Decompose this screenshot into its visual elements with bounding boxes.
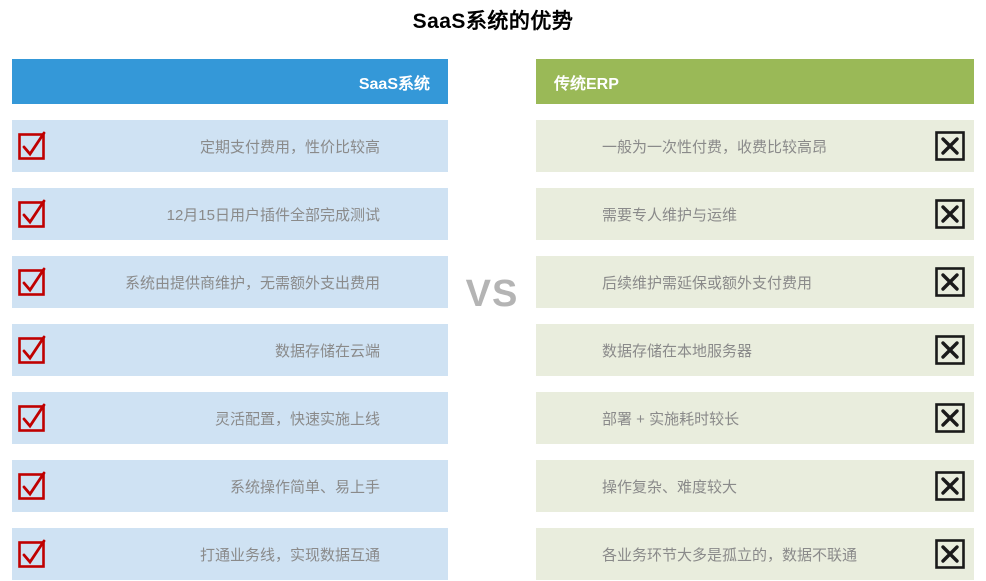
x-square-icon bbox=[934, 470, 966, 502]
table-cell-text: 后续维护需延保或额外支付费用 bbox=[554, 272, 812, 293]
saas-column-header-label: SaaS系统 bbox=[359, 70, 430, 94]
x-square-icon bbox=[934, 538, 966, 570]
erp-column-header: 传统ERP bbox=[536, 59, 974, 104]
saas-column: SaaS系统 定期支付费用，性价比较高 12月15日用户插件全部完成测试 系统由… bbox=[12, 59, 448, 580]
table-row[interactable]: 操作复杂、难度较大 bbox=[536, 460, 974, 512]
erp-column-header-label: 传统ERP bbox=[554, 70, 619, 94]
table-row[interactable]: 系统由提供商维护，无需额外支出费用 bbox=[12, 256, 448, 308]
table-cell-text: 系统由提供商维护，无需额外支出费用 bbox=[125, 272, 430, 293]
x-square-icon bbox=[934, 130, 966, 162]
table-row[interactable]: 打通业务线，实现数据互通 bbox=[12, 528, 448, 580]
erp-column: 传统ERP 一般为一次性付费，收费比较高昂 需要专人维护与运维 后续维护需延保或… bbox=[536, 59, 974, 580]
table-cell-text: 部署 + 实施耗时较长 bbox=[554, 408, 739, 429]
table-row[interactable]: 灵活配置，快速实施上线 bbox=[12, 392, 448, 444]
table-cell-text: 数据存储在本地服务器 bbox=[554, 340, 752, 361]
table-cell-text: 12月15日用户插件全部完成测试 bbox=[167, 204, 430, 225]
check-square-icon bbox=[16, 334, 48, 366]
table-row[interactable]: 数据存储在本地服务器 bbox=[536, 324, 974, 376]
vs-label: VS bbox=[448, 272, 536, 316]
check-square-icon bbox=[16, 470, 48, 502]
table-cell-text: 定期支付费用，性价比较高 bbox=[200, 136, 430, 157]
table-cell-text: 数据存储在云端 bbox=[275, 340, 430, 361]
comparison-slide: SaaS系统的优势 SaaS系统 定期支付费用，性价比较高 12月15日用户插件… bbox=[0, 0, 986, 581]
x-square-icon bbox=[934, 402, 966, 434]
table-row[interactable]: 一般为一次性付费，收费比较高昂 bbox=[536, 120, 974, 172]
table-cell-text: 需要专人维护与运维 bbox=[554, 204, 737, 225]
x-square-icon bbox=[934, 266, 966, 298]
table-cell-text: 系统操作简单、易上手 bbox=[230, 476, 430, 497]
x-square-icon bbox=[934, 334, 966, 366]
table-cell-text: 操作复杂、难度较大 bbox=[554, 476, 737, 497]
table-row[interactable]: 定期支付费用，性价比较高 bbox=[12, 120, 448, 172]
table-row[interactable]: 数据存储在云端 bbox=[12, 324, 448, 376]
check-square-icon bbox=[16, 402, 48, 434]
table-row[interactable]: 系统操作简单、易上手 bbox=[12, 460, 448, 512]
saas-column-header: SaaS系统 bbox=[12, 59, 448, 104]
x-square-icon bbox=[934, 198, 966, 230]
page-title: SaaS系统的优势 bbox=[0, 5, 986, 35]
table-row[interactable]: 各业务环节大多是孤立的，数据不联通 bbox=[536, 528, 974, 580]
table-cell-text: 灵活配置，快速实施上线 bbox=[215, 408, 430, 429]
table-row[interactable]: 后续维护需延保或额外支付费用 bbox=[536, 256, 974, 308]
table-row[interactable]: 12月15日用户插件全部完成测试 bbox=[12, 188, 448, 240]
table-cell-text: 打通业务线，实现数据互通 bbox=[200, 544, 430, 565]
check-square-icon bbox=[16, 198, 48, 230]
table-cell-text: 一般为一次性付费，收费比较高昂 bbox=[554, 136, 827, 157]
check-square-icon bbox=[16, 266, 48, 298]
table-row[interactable]: 部署 + 实施耗时较长 bbox=[536, 392, 974, 444]
check-square-icon bbox=[16, 130, 48, 162]
table-row[interactable]: 需要专人维护与运维 bbox=[536, 188, 974, 240]
table-cell-text: 各业务环节大多是孤立的，数据不联通 bbox=[554, 544, 857, 565]
check-square-icon bbox=[16, 538, 48, 570]
